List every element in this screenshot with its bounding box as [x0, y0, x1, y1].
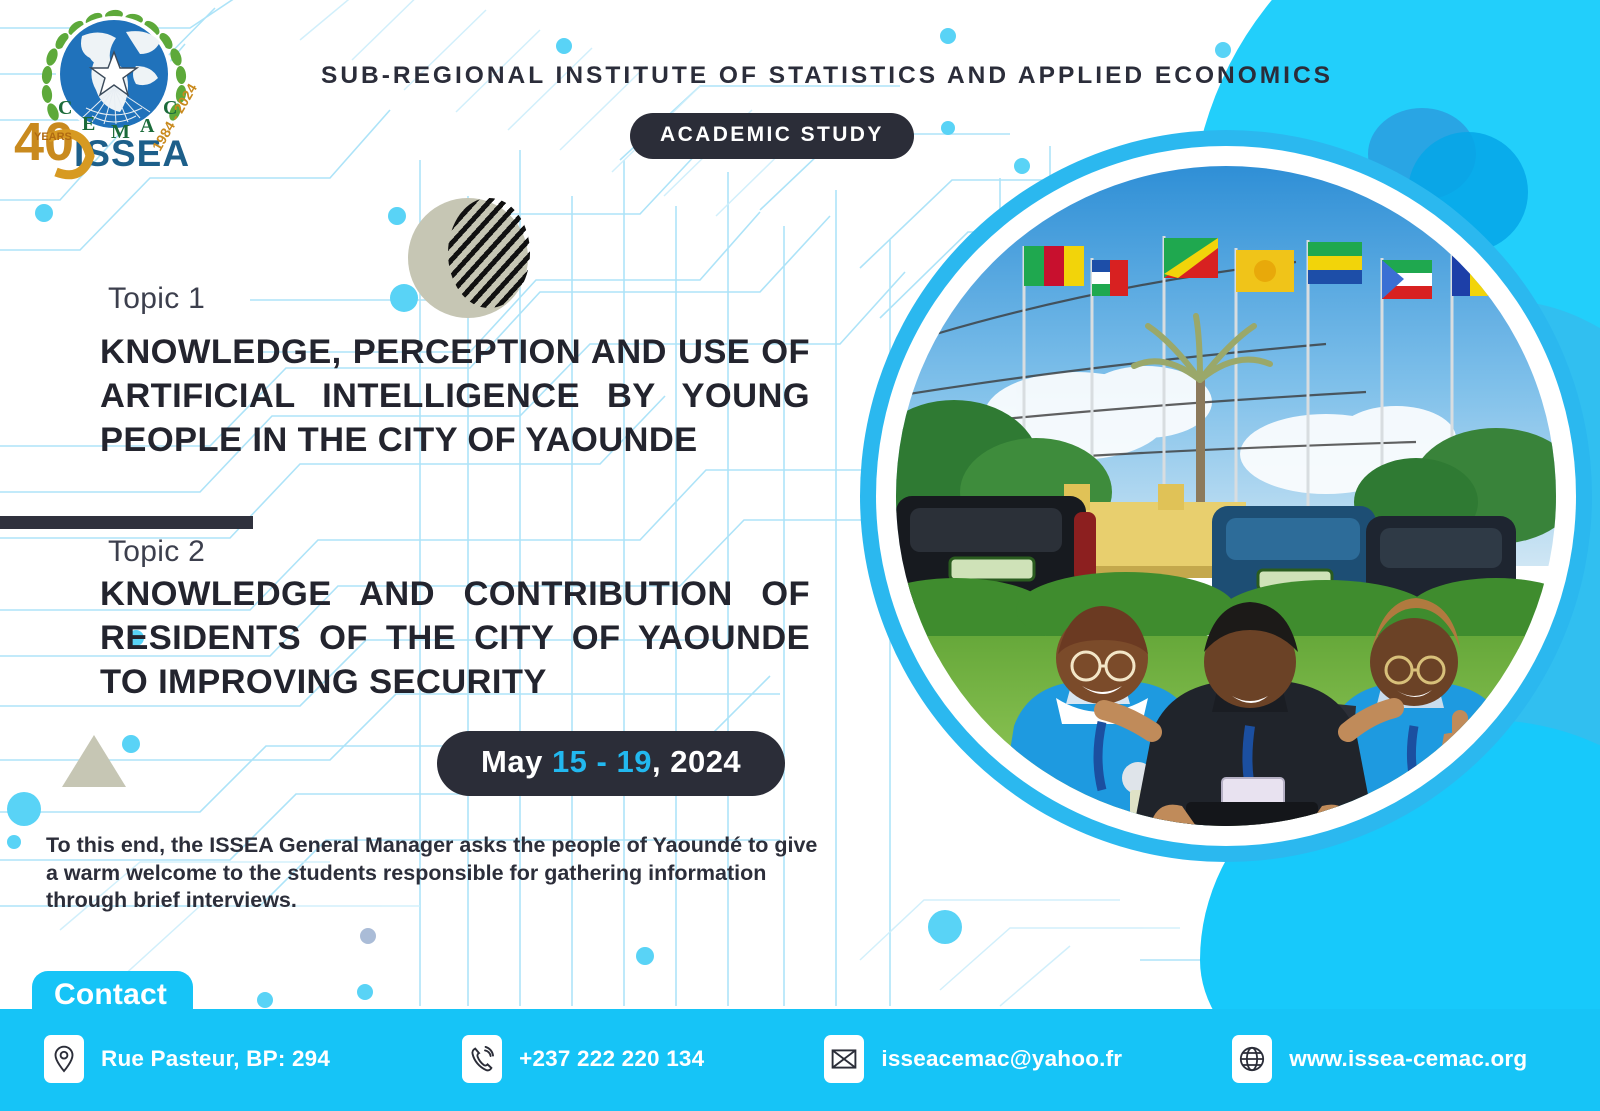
decorative-khaki-triangle	[62, 735, 126, 787]
date-badge: May 15 - 19, 2024	[437, 731, 785, 796]
location-pin-icon	[44, 1035, 84, 1083]
globe-icon	[1232, 1035, 1272, 1083]
issea-cemac-logo: C E M A C ISSEA 40 YEARS 1984 - 2024	[8, 2, 218, 184]
decorative-striped-circle	[448, 198, 530, 308]
poster-canvas: C E M A C ISSEA 40 YEARS 1984 - 2024 SUB…	[0, 0, 1600, 1111]
date-separator: -	[597, 744, 608, 779]
topic-1-label: Topic 1	[108, 282, 205, 316]
topic-2-label: Topic 2	[108, 535, 205, 569]
topic-2-title: KNOWLEDGE AND CONTRIBUTION OF RESIDENTS …	[100, 572, 810, 704]
contact-item-phone[interactable]: +237 222 220 134	[462, 1035, 704, 1083]
contact-address-text: Rue Pasteur, BP: 294	[101, 1046, 330, 1072]
svg-text:E: E	[82, 113, 95, 135]
team-photo	[896, 166, 1556, 826]
section-divider	[0, 516, 253, 529]
svg-text:YEARS: YEARS	[34, 131, 72, 143]
organization-title: SUB-REGIONAL INSTITUTE OF STATISTICS AND…	[282, 62, 1372, 90]
phone-icon	[462, 1035, 502, 1083]
contact-website-text: www.issea-cemac.org	[1289, 1046, 1527, 1072]
date-month: May	[481, 744, 543, 779]
academic-study-badge: ACADEMIC STUDY	[630, 113, 914, 159]
contact-item-website[interactable]: www.issea-cemac.org	[1232, 1035, 1527, 1083]
date-day-end: 19	[617, 744, 652, 779]
contact-phone-text: +237 222 220 134	[519, 1046, 704, 1072]
contact-item-address[interactable]: Rue Pasteur, BP: 294	[44, 1035, 330, 1083]
contact-item-email[interactable]: isseacemac@yahoo.fr	[824, 1035, 1122, 1083]
date-day-start: 15	[552, 744, 587, 779]
topic-1-title: KNOWLEDGE, PERCEPTION AND USE OF ARTIFIC…	[100, 330, 810, 462]
contact-email-text: isseacemac@yahoo.fr	[881, 1046, 1122, 1072]
contact-row: Rue Pasteur, BP: 294 +237 222 220 134	[0, 1020, 1600, 1098]
invitation-note: To this end, the ISSEA General Manager a…	[46, 832, 821, 915]
date-year: , 2024	[652, 744, 741, 779]
envelope-icon	[824, 1035, 864, 1083]
contact-heading: Contact	[32, 971, 193, 1022]
